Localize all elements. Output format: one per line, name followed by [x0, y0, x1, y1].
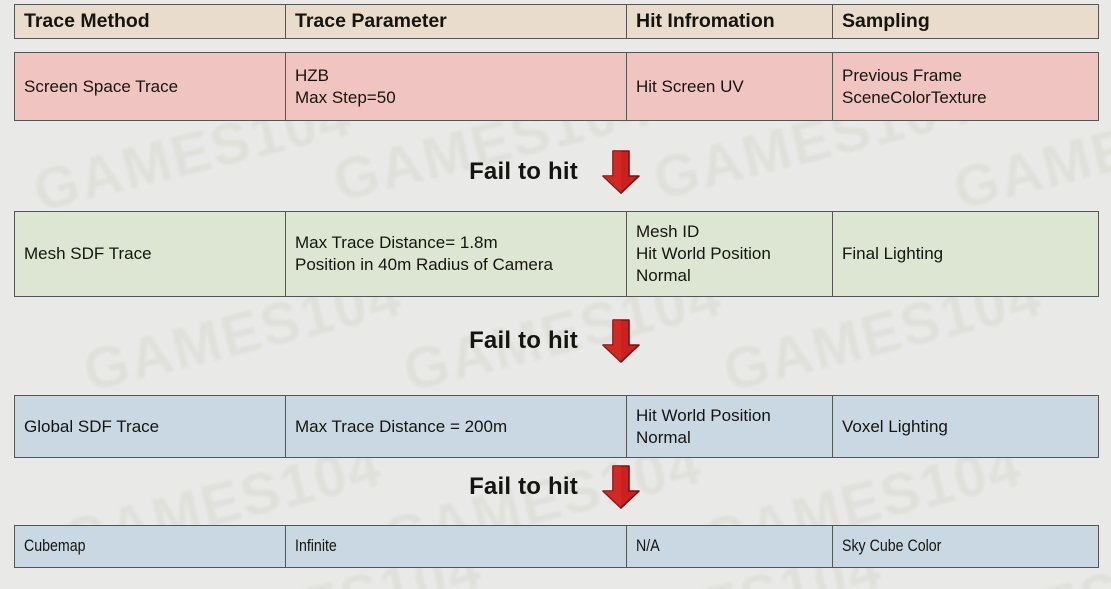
fail-to-hit-label: Fail to hit: [469, 473, 578, 501]
table-header-row: Trace Method Trace Parameter Hit Infroma…: [14, 4, 1099, 39]
cell-hit-information: Mesh ID Hit World Position Normal: [627, 212, 833, 297]
connector-fail-to-hit-1: Fail to hit: [0, 149, 1111, 195]
column-header-trace-parameter: Trace Parameter: [286, 5, 627, 39]
cell-text: Max Trace Distance= 1.8m: [295, 232, 617, 254]
trace-fallback-diagram: Trace Method Trace Parameter Hit Infroma…: [0, 0, 1111, 589]
cell-text: N/A: [636, 536, 660, 557]
cell-text: Voxel Lighting: [842, 416, 1089, 438]
cell-text: Position in 40m Radius of Camera: [295, 254, 617, 276]
cell-hit-information: Hit Screen UV: [627, 53, 833, 121]
cell-text: Infinite: [295, 536, 337, 557]
cell-text: Hit World Position: [636, 405, 823, 427]
cell-trace-parameter: Max Trace Distance= 1.8m Position in 40m…: [286, 212, 627, 297]
cell-sampling: Voxel Lighting: [833, 396, 1099, 458]
cell-text: Mesh ID: [636, 221, 823, 243]
cell-text: SceneColorTexture: [842, 87, 1089, 109]
cell-text: Sky Cube Color: [842, 536, 941, 557]
cell-trace-method: Mesh SDF Trace: [15, 212, 286, 297]
down-arrow-icon: [600, 464, 642, 510]
table-row-global-sdf-trace: Global SDF Trace Max Trace Distance = 20…: [14, 395, 1099, 458]
cell-sampling: Final Lighting: [833, 212, 1099, 297]
fail-to-hit-label: Fail to hit: [469, 327, 578, 355]
cell-text: Max Step=50: [295, 87, 617, 109]
cell-text: Global SDF Trace: [24, 416, 276, 438]
cell-trace-parameter: Max Trace Distance = 200m: [286, 396, 627, 458]
cell-text: Final Lighting: [842, 243, 1089, 265]
cell-text: Hit Screen UV: [636, 76, 823, 98]
table-row-mesh-sdf-trace: Mesh SDF Trace Max Trace Distance= 1.8m …: [14, 211, 1099, 297]
column-header-trace-method: Trace Method: [15, 5, 286, 39]
cell-trace-method: Global SDF Trace: [15, 396, 286, 458]
fail-to-hit-label: Fail to hit: [469, 158, 578, 186]
cell-text: Normal: [636, 265, 823, 287]
column-header-sampling: Sampling: [833, 5, 1099, 39]
column-header-hit-information: Hit Infromation: [627, 5, 833, 39]
cell-text: Cubemap: [24, 536, 86, 557]
table-row-cubemap: Cubemap Infinite N/A Sky Cube Color: [14, 525, 1099, 568]
cell-trace-method: Cubemap: [15, 526, 286, 568]
cell-text: HZB: [295, 65, 617, 87]
cell-text: Mesh SDF Trace: [24, 243, 276, 265]
cell-text: Hit World Position: [636, 243, 823, 265]
cell-text: Previous Frame: [842, 65, 1089, 87]
cell-trace-parameter: HZB Max Step=50: [286, 53, 627, 121]
cell-sampling: Sky Cube Color: [833, 526, 1099, 568]
cell-hit-information: Hit World Position Normal: [627, 396, 833, 458]
table-row-screen-space-trace: Screen Space Trace HZB Max Step=50 Hit S…: [14, 52, 1099, 121]
connector-fail-to-hit-2: Fail to hit: [0, 318, 1111, 364]
cell-text: Normal: [636, 427, 823, 449]
connector-fail-to-hit-3: Fail to hit: [0, 464, 1111, 510]
cell-hit-information: N/A: [627, 526, 833, 568]
cell-trace-parameter: Infinite: [286, 526, 627, 568]
down-arrow-icon: [600, 318, 642, 364]
cell-sampling: Previous Frame SceneColorTexture: [833, 53, 1099, 121]
cell-text: Screen Space Trace: [24, 76, 276, 98]
down-arrow-icon: [600, 149, 642, 195]
cell-text: Max Trace Distance = 200m: [295, 416, 617, 438]
cell-trace-method: Screen Space Trace: [15, 53, 286, 121]
